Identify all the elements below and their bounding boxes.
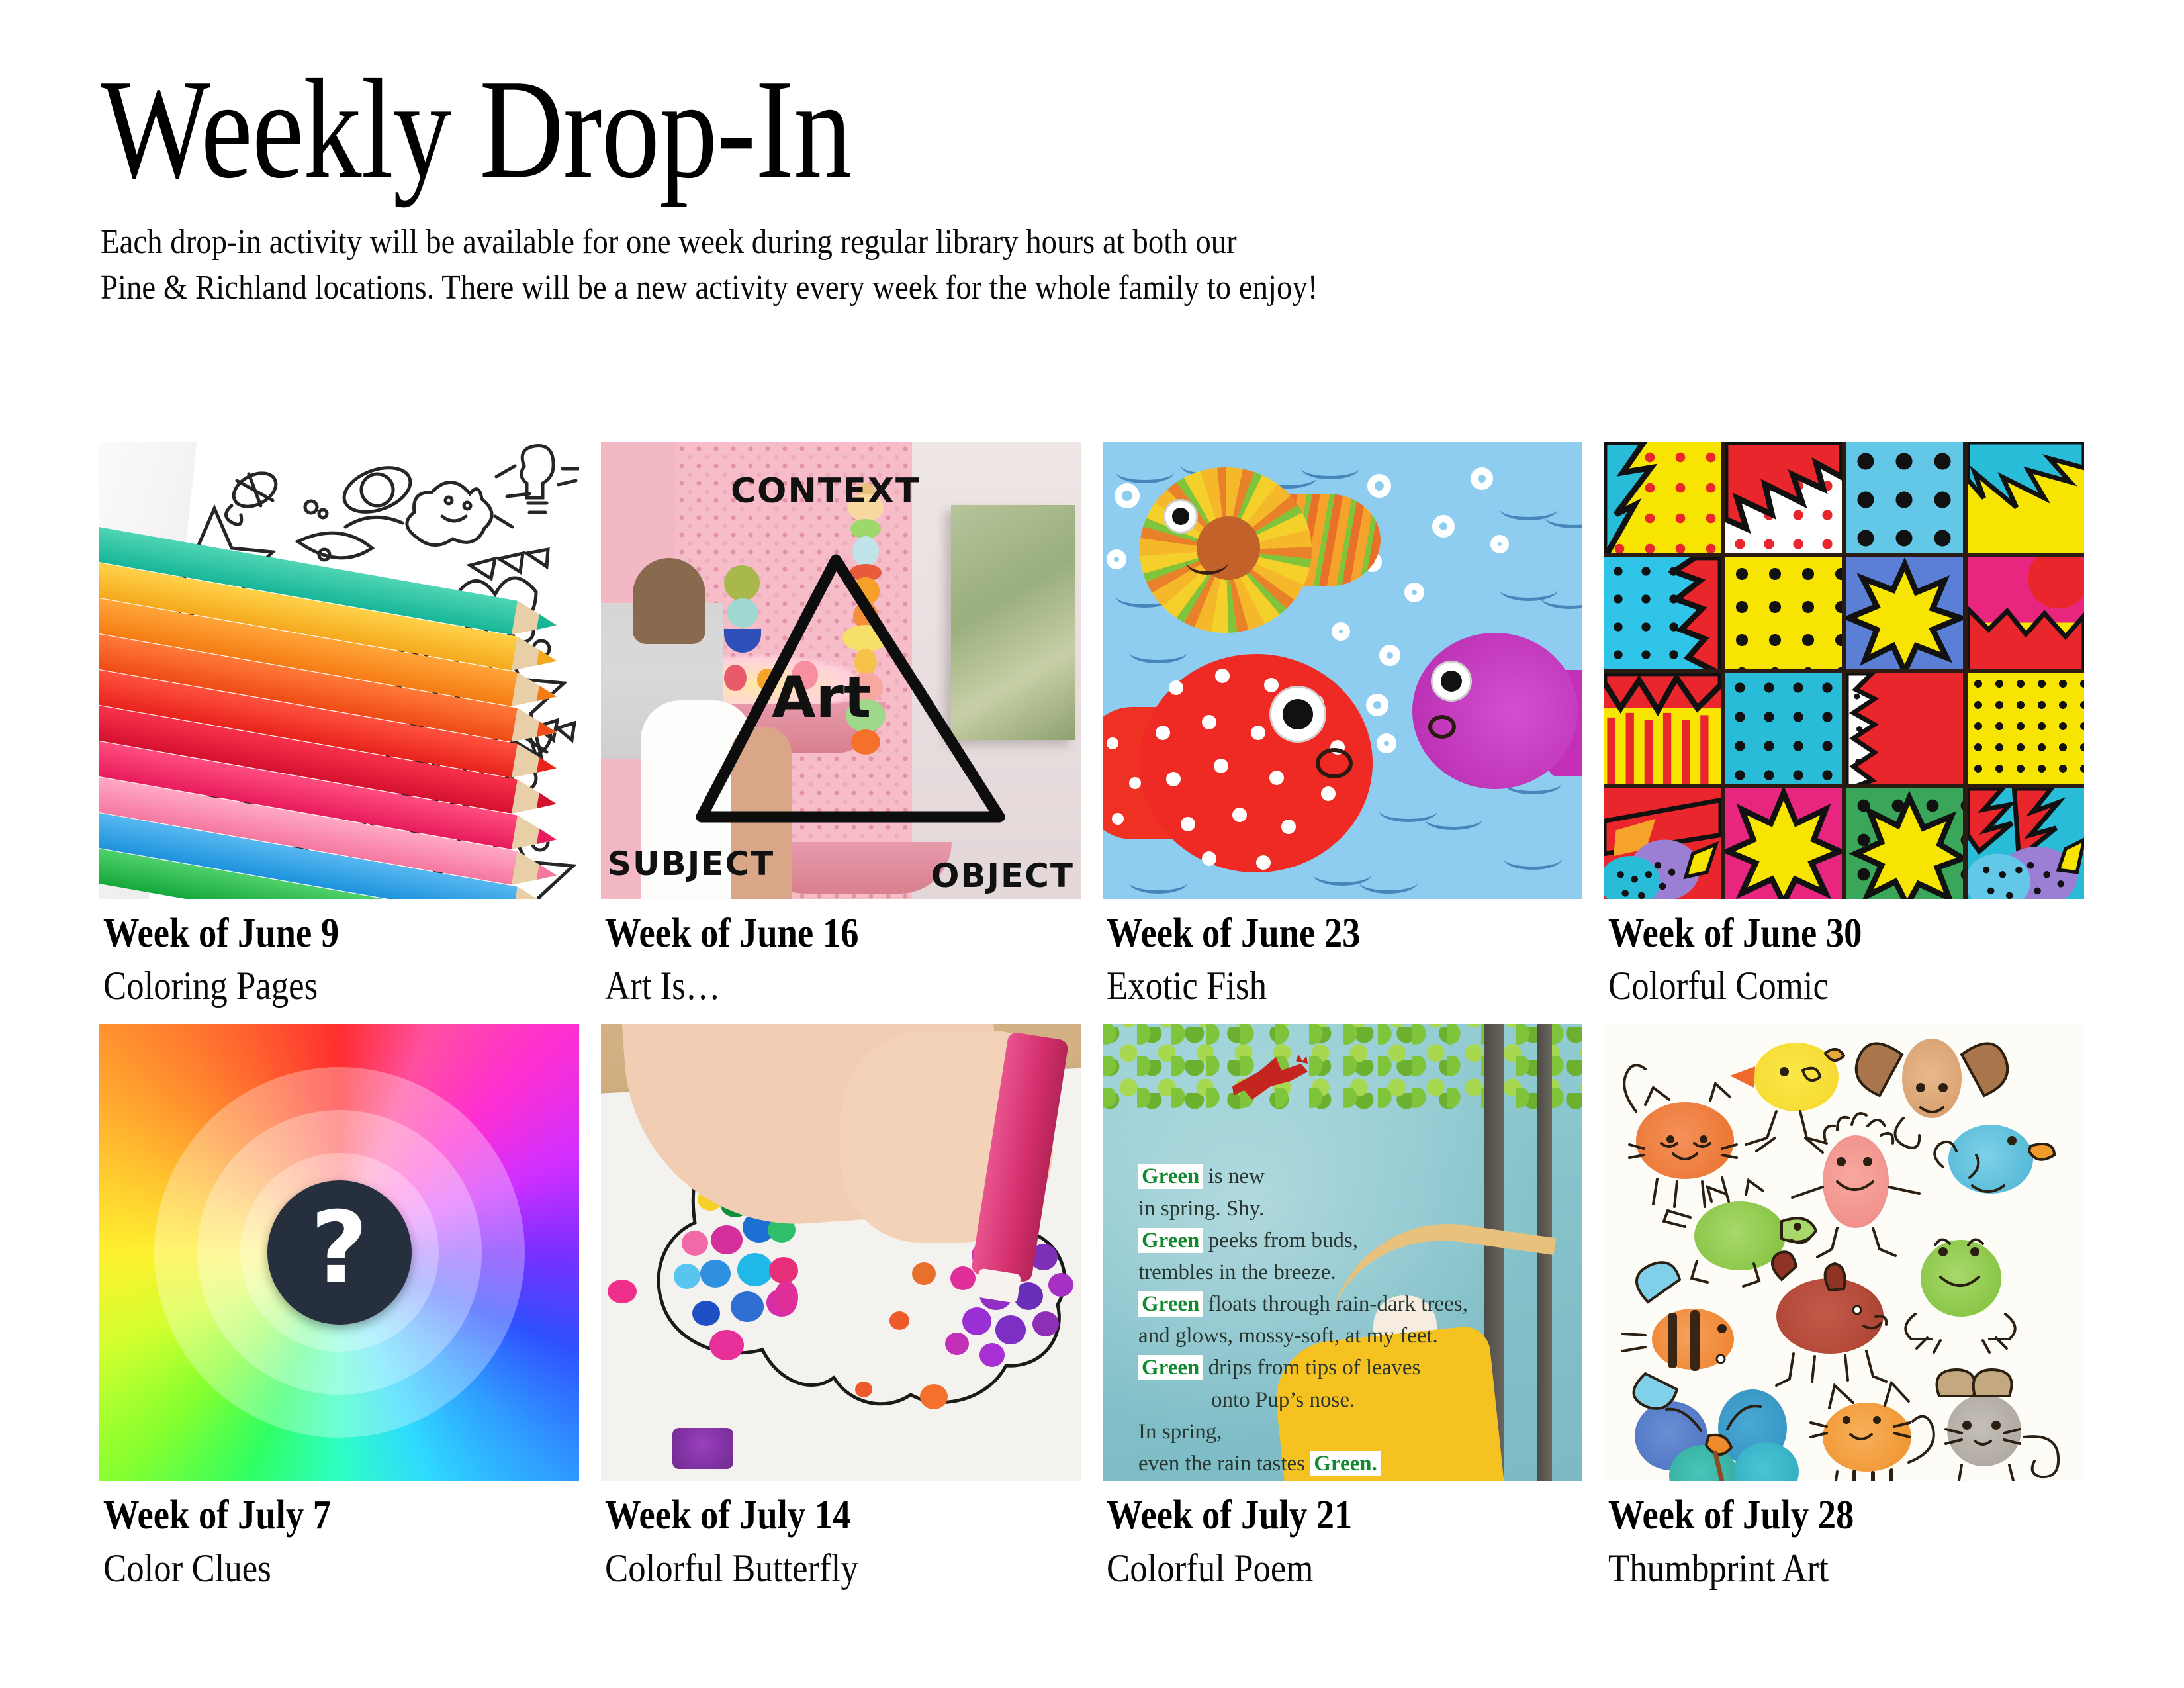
subtitle-line-2: Pine & Richland locations. There will be… xyxy=(101,265,1888,311)
paper-plate-fish-image xyxy=(1103,442,1582,899)
question-mark-icon: ? xyxy=(267,1180,412,1325)
comic-panel xyxy=(1846,442,1963,553)
poem-line: onto Pup’s nose. xyxy=(1138,1384,1483,1416)
butterfly-dotting-image xyxy=(601,1024,1081,1481)
card-activity: Coloring Pages xyxy=(103,962,522,1009)
card-activity: Colorful Comic xyxy=(1608,962,2027,1009)
color-wheel-image: ? xyxy=(99,1024,579,1481)
activity-card[interactable]: Week of June 9 Coloring Pages xyxy=(99,442,579,1009)
card-date: Week of July 7 xyxy=(103,1493,522,1538)
comic-panel xyxy=(1604,557,1721,668)
card-activity: Thumbprint Art xyxy=(1608,1544,2027,1592)
card-caption: Week of July 28 Thumbprint Art xyxy=(1604,1481,2084,1591)
thumbprint-linework-icon xyxy=(1604,1024,2084,1481)
poem-line: Green floats through rain-dark trees, xyxy=(1138,1288,1483,1320)
comic-panel xyxy=(1725,673,1842,784)
poem-text: Green is new in spring. Shy. Green peeks… xyxy=(1138,1160,1483,1479)
card-date: Week of July 14 xyxy=(605,1493,1024,1538)
comic-panel xyxy=(1604,788,1721,899)
comic-panel xyxy=(1604,673,1721,784)
marker-cap xyxy=(672,1428,733,1469)
card-date: Week of June 16 xyxy=(605,911,1024,957)
activity-grid: Week of June 9 Coloring Pages xyxy=(99,442,2085,1592)
poster-header: Weekly Drop-In Each drop-in activity wil… xyxy=(101,61,2086,311)
poem-line: in spring. Shy. xyxy=(1138,1193,1483,1225)
card-caption: Week of July 14 Colorful Butterfly xyxy=(601,1481,1081,1591)
activity-card[interactable]: CONTEXT Art SUBJECT OBJECT Week of June … xyxy=(601,442,1081,1009)
poster-subtitle: Each drop-in activity will be available … xyxy=(101,220,1888,310)
card-date: Week of June 30 xyxy=(1608,911,2027,957)
comic-panel xyxy=(1725,557,1842,668)
activity-card[interactable]: Green is new in spring. Shy. Green peeks… xyxy=(1103,1024,1582,1591)
label-context: CONTEXT xyxy=(731,471,920,511)
red-cardinal-icon xyxy=(1230,1052,1316,1111)
art-is-image: CONTEXT Art SUBJECT OBJECT xyxy=(601,442,1081,899)
poster-root: Weekly Drop-In Each drop-in activity wil… xyxy=(0,0,2184,1688)
card-caption: Week of July 7 Color Clues xyxy=(99,1481,579,1591)
comic-panel xyxy=(1846,788,1963,899)
activity-card[interactable]: Week of July 14 Colorful Butterfly xyxy=(601,1024,1081,1591)
label-art: Art xyxy=(772,665,871,731)
activity-card[interactable]: Week of June 30 Colorful Comic xyxy=(1604,442,2084,1009)
comic-panel xyxy=(1968,442,2084,553)
card-date: Week of June 9 xyxy=(103,911,522,957)
activity-card[interactable]: ? Week of July 7 Color Clues xyxy=(99,1024,579,1591)
comic-panel xyxy=(1725,442,1842,553)
poem-line: Green is new xyxy=(1138,1160,1483,1192)
comic-panel xyxy=(1604,442,1721,553)
poem-line: Green peeks from buds, xyxy=(1138,1225,1483,1256)
thumbprint-animals-image xyxy=(1604,1024,2084,1481)
poem-line: In spring, xyxy=(1138,1416,1483,1448)
card-activity: Colorful Butterfly xyxy=(605,1544,1024,1592)
poem-line: Green drips from tips of leaves xyxy=(1138,1352,1483,1383)
card-caption: Week of June 16 Art Is… xyxy=(601,899,1081,1009)
card-caption: Week of July 21 Colorful Poem xyxy=(1103,1481,1582,1591)
card-date: Week of June 23 xyxy=(1107,911,1525,957)
activity-card[interactable]: Week of June 23 Exotic Fish xyxy=(1103,442,1582,1009)
page-title: Weekly Drop-In xyxy=(101,61,1729,197)
card-activity: Colorful Poem xyxy=(1107,1544,1525,1592)
poem-line: and glows, mossy-soft, at my feet. xyxy=(1138,1320,1483,1352)
comic-panel-grid xyxy=(1604,442,2084,899)
label-subject: SUBJECT xyxy=(608,845,774,883)
card-caption: Week of June 30 Colorful Comic xyxy=(1604,899,2084,1009)
card-activity: Art Is… xyxy=(605,962,1024,1009)
card-date: Week of July 21 xyxy=(1107,1493,1525,1538)
card-activity: Exotic Fish xyxy=(1107,962,1525,1009)
comic-panel xyxy=(1725,788,1842,899)
subtitle-line-1: Each drop-in activity will be available … xyxy=(101,220,1888,265)
card-caption: Week of June 23 Exotic Fish xyxy=(1103,899,1582,1009)
label-object: OBJECT xyxy=(931,857,1074,895)
card-caption: Week of June 9 Coloring Pages xyxy=(99,899,579,1009)
poem-line: trembles in the breeze. xyxy=(1138,1256,1483,1288)
comic-panel xyxy=(1968,557,2084,668)
card-activity: Color Clues xyxy=(103,1544,522,1592)
card-date: Week of July 28 xyxy=(1608,1493,2027,1538)
poem-line: even the rain tastes Green. xyxy=(1138,1448,1483,1479)
activity-card[interactable]: Week of July 28 Thumbprint Art xyxy=(1604,1024,2084,1591)
pop-art-comic-image xyxy=(1604,442,2084,899)
comic-panel xyxy=(1968,788,2084,899)
colored-pencils-image xyxy=(99,442,579,899)
leaf-canopy xyxy=(1103,1024,1582,1110)
comic-panel xyxy=(1846,557,1963,668)
green-poem-page-image: Green is new in spring. Shy. Green peeks… xyxy=(1103,1024,1582,1481)
comic-panel xyxy=(1846,673,1963,784)
comic-panel xyxy=(1968,673,2084,784)
